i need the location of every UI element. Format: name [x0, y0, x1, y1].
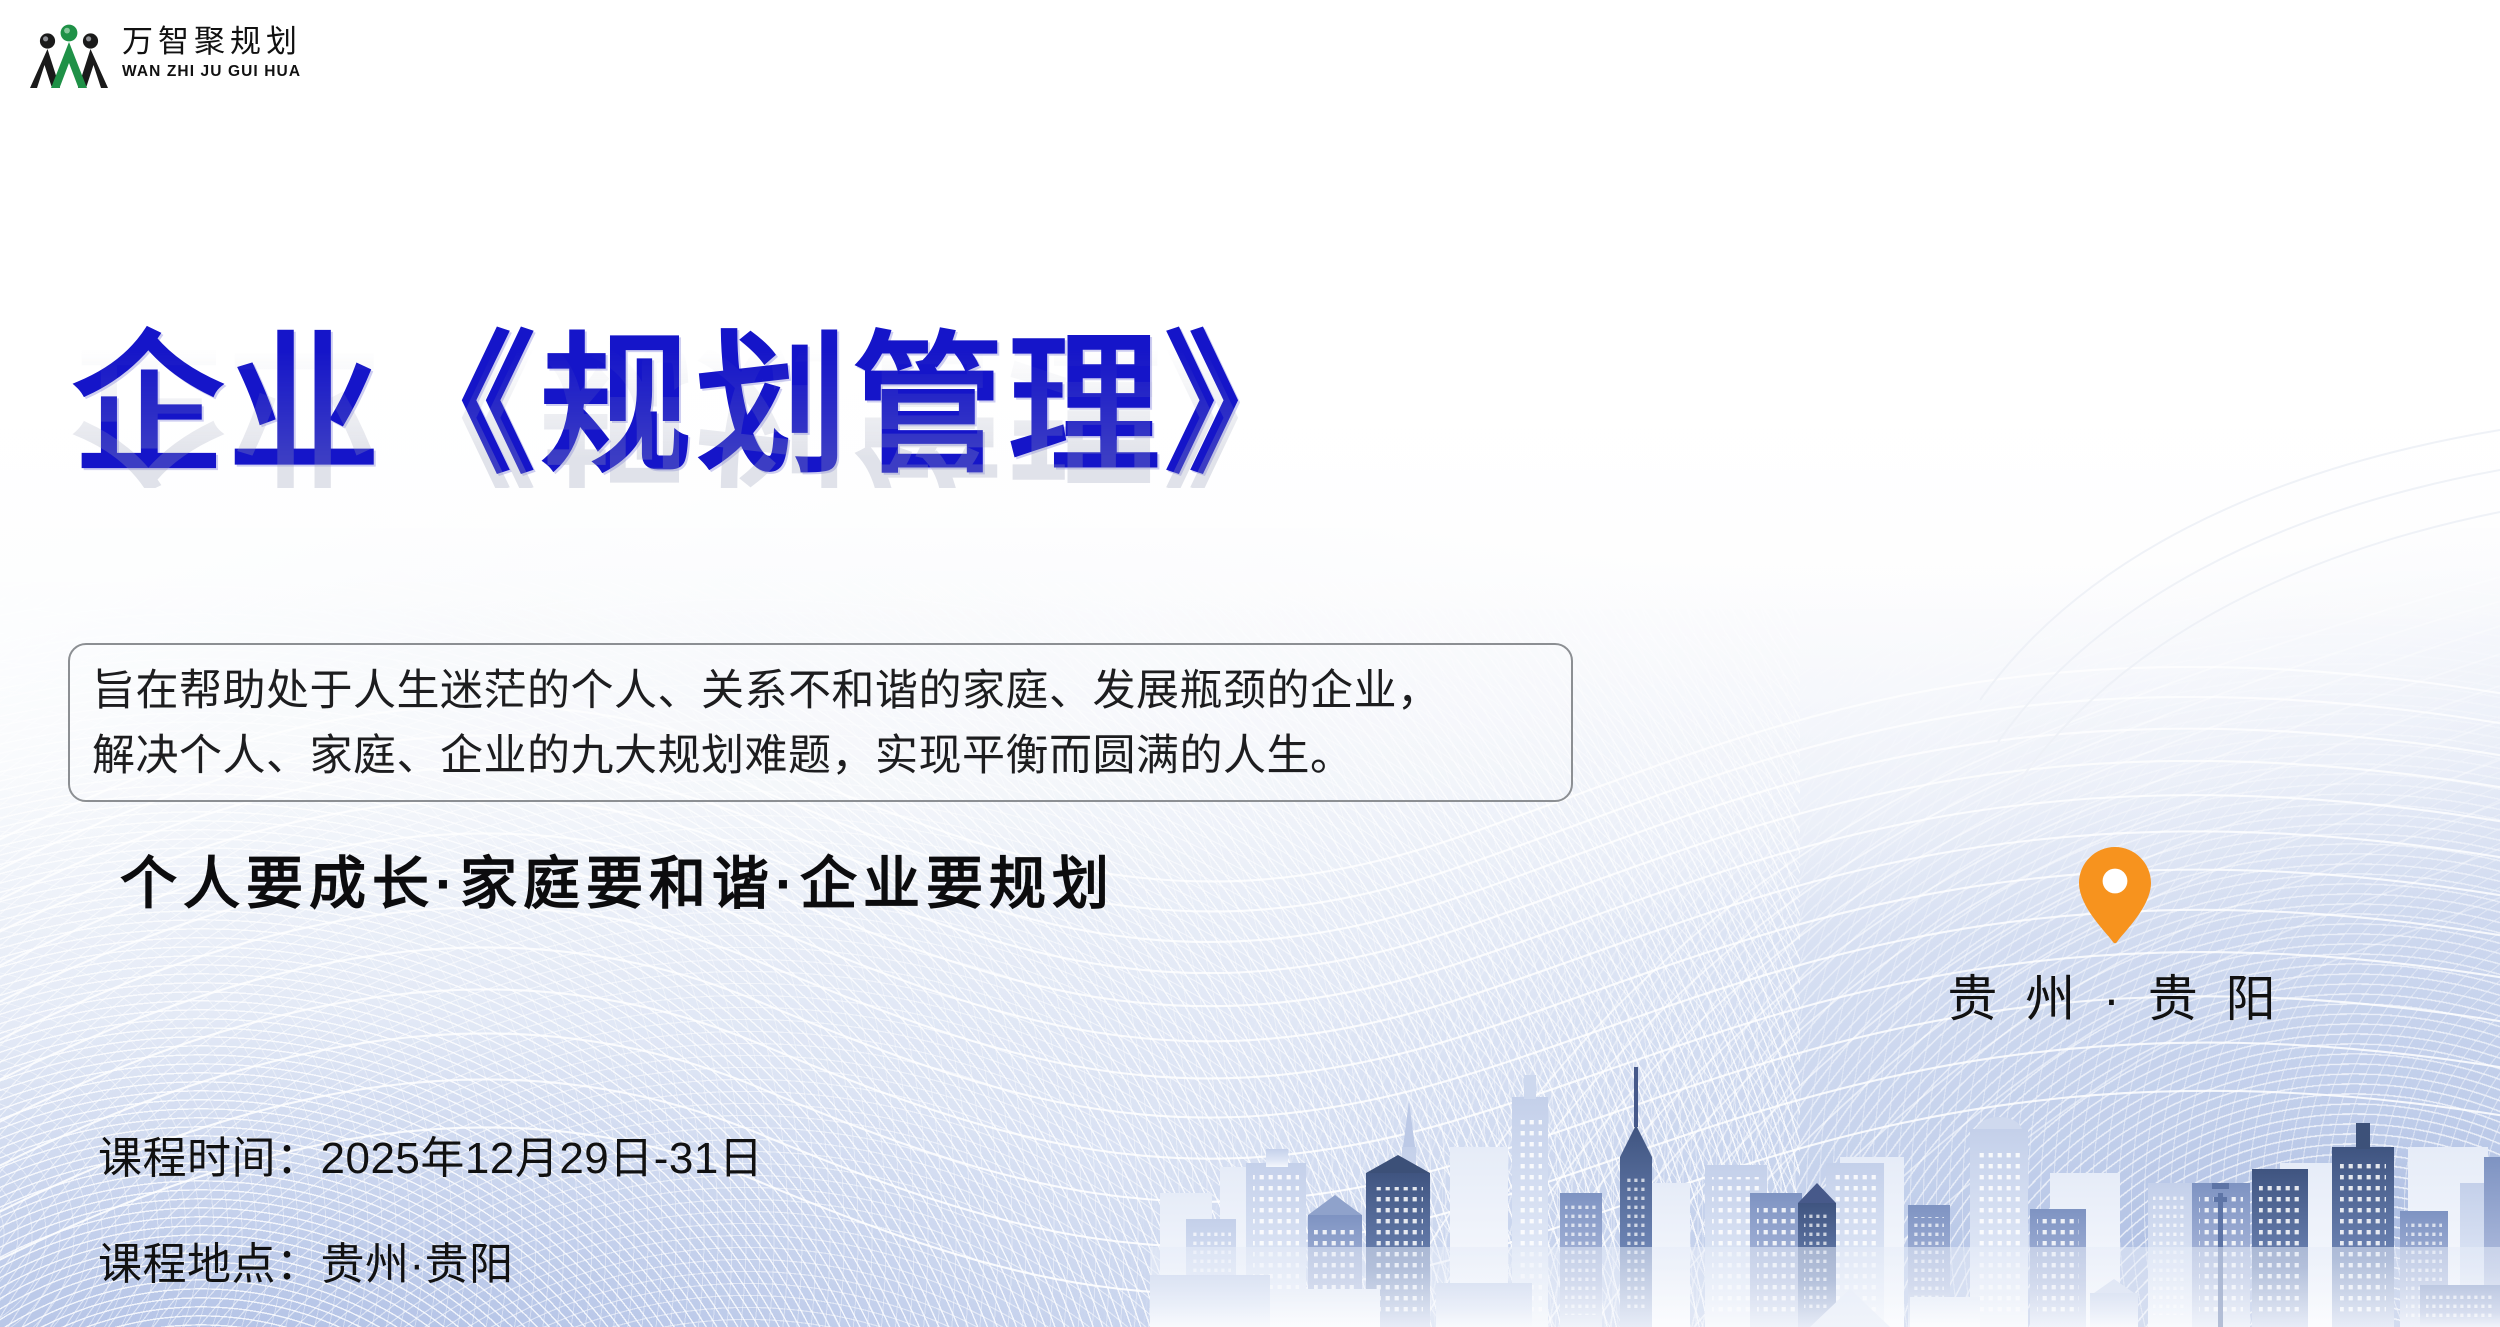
- three-people-logo-icon: [30, 18, 108, 88]
- location-label: 贵 州 · 贵 阳: [1947, 959, 2282, 1031]
- course-time: 课程时间：2025年12月29日-31日: [98, 1122, 763, 1186]
- poster-canvas: 万智聚规划 WAN ZHI JU GUI HUA 企业《规划管理》 企业《规划管…: [0, 0, 2500, 1327]
- course-place: 课程地点：贵州·贵阳: [98, 1228, 763, 1292]
- map-pin-icon: [2077, 845, 2153, 945]
- brand-logo: 万智聚规划 WAN ZHI JU GUI HUA: [30, 18, 302, 88]
- brand-name-pinyin: WAN ZHI JU GUI HUA: [122, 64, 302, 80]
- description-line-2: 解决个人、家庭、企业的九大规划难题，实现平衡而圆满的人生。: [92, 724, 1549, 789]
- slogan-text: 个人要成长·家庭要和谐·企业要规划: [120, 838, 1115, 920]
- location-block: 贵 州 · 贵 阳: [1945, 845, 2285, 1031]
- hero-title-block: 企业《规划管理》 企业《规划管理》: [72, 330, 1632, 660]
- brand-logo-text: 万智聚规划 WAN ZHI JU GUI HUA: [122, 26, 302, 80]
- brand-name-cn: 万智聚规划: [122, 26, 302, 57]
- page-title-reflection: 企业《规划管理》: [72, 336, 1632, 488]
- description-box: 旨在帮助处于人生迷茫的个人、关系不和谐的家庭、发展瓶颈的企业， 解决个人、家庭、…: [68, 643, 1573, 802]
- course-info-block: 课程时间：2025年12月29日-31日 课程地点：贵州·贵阳: [98, 1122, 763, 1292]
- description-line-1: 旨在帮助处于人生迷茫的个人、关系不和谐的家庭、发展瓶颈的企业，: [92, 659, 1549, 724]
